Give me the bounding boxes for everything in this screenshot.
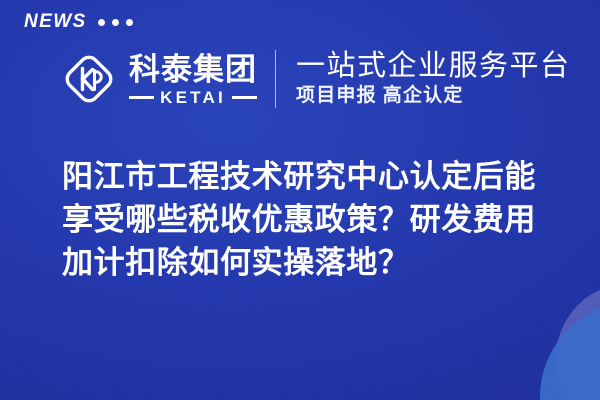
dot-icon bbox=[112, 19, 119, 26]
wordmark-rule-right bbox=[232, 96, 257, 99]
brand-logo: 科泰集团 KETAI bbox=[58, 48, 257, 110]
news-dots bbox=[98, 19, 133, 26]
news-label: NEWS bbox=[24, 12, 87, 31]
headline: 阳江市工程技术研究中心认定后能 享受哪些税收优惠政策？研发费用 加计扣除如何实操… bbox=[62, 155, 568, 284]
headline-line-1: 阳江市工程技术研究中心认定后能 bbox=[62, 155, 568, 198]
tagline-main: 一站式企业服务平台 bbox=[296, 51, 571, 82]
tagline-sub: 项目申报 高企认定 bbox=[296, 86, 571, 107]
wordmark-rule-left bbox=[129, 96, 154, 99]
vertical-divider-icon bbox=[275, 50, 276, 108]
dot-icon bbox=[126, 19, 133, 26]
news-banner: NEWS bbox=[0, 0, 600, 400]
brand-name-cn: 科泰集团 bbox=[129, 54, 257, 87]
headline-line-3: 加计扣除如何实操落地？ bbox=[62, 241, 568, 284]
decorative-circle-muted bbox=[556, 283, 600, 400]
brand-header: 科泰集团 KETAI 一站式企业服务平台 项目申报 高企认定 bbox=[0, 44, 600, 114]
brand-tagline: 一站式企业服务平台 项目申报 高企认定 bbox=[296, 51, 571, 106]
headline-line-2: 享受哪些税收优惠政策？研发费用 bbox=[62, 198, 568, 241]
brand-name-en: KETAI bbox=[160, 89, 226, 106]
brand-wordmark: 科泰集团 KETAI bbox=[129, 52, 257, 106]
decorative-circle-bright bbox=[540, 302, 600, 400]
news-eyebrow: NEWS bbox=[24, 12, 133, 31]
dot-icon bbox=[98, 19, 105, 26]
ketai-diamond-monogram-icon bbox=[58, 48, 120, 110]
brand-name-en-row: KETAI bbox=[129, 89, 257, 106]
